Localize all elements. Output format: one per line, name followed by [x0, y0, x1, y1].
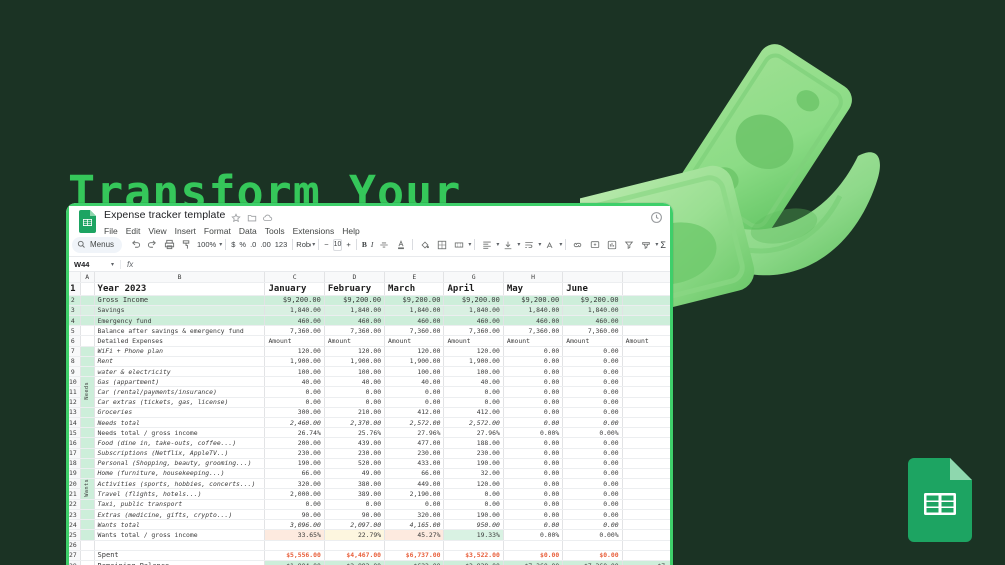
merge-chevron-down-icon[interactable]: ▾	[468, 241, 471, 248]
cell-value[interactable]: 0.00	[563, 377, 622, 387]
cell-value[interactable]: 0.00	[503, 448, 562, 458]
google-sheets-window[interactable]: Expense tracker template File Edit View	[66, 203, 673, 565]
cell-amount-header[interactable]: Amount	[265, 336, 324, 346]
cell-detailed-expenses[interactable]: Detailed Expenses	[94, 336, 265, 346]
cell-value[interactable]: 0.00	[265, 397, 324, 407]
zoom-level[interactable]: 100%	[195, 240, 218, 249]
cell-value[interactable]: 0.00	[503, 397, 562, 407]
print-icon[interactable]	[161, 236, 178, 253]
cell-value[interactable]: 0.00	[563, 387, 622, 397]
row-number[interactable]: 4	[66, 316, 80, 326]
cell-empty[interactable]	[324, 540, 384, 550]
row-number[interactable]: 17	[66, 448, 80, 458]
cell-value[interactable]: $9,200.00	[265, 295, 324, 305]
cell-value[interactable]: 7,360.00	[444, 326, 503, 336]
cell-value[interactable]: 22.79%	[324, 530, 384, 540]
cell-value[interactable]: 190.00	[444, 509, 503, 519]
row-number[interactable]: 5	[66, 326, 80, 336]
cell-label-wants-total[interactable]: Wants total	[94, 520, 265, 530]
cell-value[interactable]: 0.00	[265, 499, 324, 509]
cell-empty[interactable]	[622, 295, 672, 305]
cell-label[interactable]: Rent	[94, 356, 265, 366]
cell-value[interactable]: $3,522.00	[444, 550, 503, 560]
cell-label[interactable]: water & electricity	[94, 367, 265, 377]
cell-empty[interactable]	[622, 540, 672, 550]
cell-amount-header[interactable]: Amount	[324, 336, 384, 346]
cell-value[interactable]: 950.00	[444, 520, 503, 530]
cell-value[interactable]: 0.00	[503, 479, 562, 489]
cell-value[interactable]: 0.00	[503, 509, 562, 519]
merge-cells-icon[interactable]	[450, 236, 467, 253]
cell-month-may[interactable]: May	[503, 282, 562, 295]
cell-month-april[interactable]: April	[444, 282, 503, 295]
cell-value[interactable]: 0.00	[503, 458, 562, 468]
cell-value[interactable]: 0.00%	[503, 530, 562, 540]
cell-value[interactable]: 40.00	[444, 377, 503, 387]
row-number[interactable]: 18	[66, 458, 80, 468]
cell-value[interactable]: 0.00	[503, 377, 562, 387]
cell-value[interactable]: 1,900.00	[324, 356, 384, 366]
cell-value[interactable]: 1,900.00	[385, 356, 444, 366]
cell-a[interactable]	[80, 305, 94, 315]
cell-empty[interactable]	[622, 530, 672, 540]
table-row[interactable]: 7 WiFi + Phone plan 120.00 120.00 120.00…	[66, 346, 673, 356]
cell-value[interactable]: 230.00	[324, 448, 384, 458]
cell-value[interactable]: 0.00	[324, 397, 384, 407]
cell-value[interactable]: 7,360.00	[324, 326, 384, 336]
cell-a[interactable]	[80, 540, 94, 550]
table-row[interactable]: 10 Needs Gas (appartment) 40.00 40.00 40…	[66, 377, 673, 387]
cell-value[interactable]: 0.00	[503, 346, 562, 356]
row-number[interactable]: 22	[66, 499, 80, 509]
col-header-c[interactable]: C	[265, 272, 324, 282]
cell-value[interactable]: 0.00	[503, 468, 562, 478]
cell-label[interactable]: Car extras (tickets, gas, license)	[94, 397, 265, 407]
cell-value[interactable]: 2,370.00	[324, 417, 384, 427]
row-number[interactable]: 1	[66, 282, 80, 295]
cell-label-spent[interactable]: Spent	[94, 550, 265, 560]
cell-a[interactable]	[80, 550, 94, 560]
cell-value[interactable]: $3,838.00	[444, 560, 503, 565]
cell-empty[interactable]	[444, 540, 503, 550]
toolbar[interactable]: Menus 100% ▾ $ % .0 .00 123 Robot..	[66, 233, 673, 256]
cell-value[interactable]: 0.00	[503, 356, 562, 366]
cell-value[interactable]: 49.00	[324, 468, 384, 478]
table-row[interactable]: 3 Savings 1,840.00 1,840.00 1,840.00 1,8…	[66, 305, 673, 315]
cell-empty[interactable]	[622, 509, 672, 519]
cell-value[interactable]: 0.00	[563, 346, 622, 356]
cell-value[interactable]: 0.00	[503, 499, 562, 509]
cell-value[interactable]: 0.00	[444, 387, 503, 397]
cell-label-balance-after[interactable]: Balance after savings & emergency fund	[94, 326, 265, 336]
row-number[interactable]: 9	[66, 367, 80, 377]
cell-value[interactable]: 2,097.00	[324, 520, 384, 530]
namebox-chevron-down-icon[interactable]: ▾	[111, 261, 114, 268]
cell-value[interactable]: 2,460.00	[265, 417, 324, 427]
cell-value[interactable]: 412.00	[444, 407, 503, 417]
spreadsheet-grid[interactable]: A B C D E G H 1	[66, 272, 673, 565]
cell-value[interactable]: 0.00%	[563, 428, 622, 438]
cell-month-january[interactable]: January	[265, 282, 324, 295]
more-formats-button[interactable]: 123	[273, 240, 290, 249]
cell-value[interactable]: 40.00	[385, 377, 444, 387]
cell-year-title[interactable]: Year 2023	[94, 282, 265, 295]
cell-value[interactable]: 100.00	[444, 367, 503, 377]
cell-value[interactable]: 120.00	[265, 346, 324, 356]
cell-value[interactable]: 210.00	[324, 407, 384, 417]
cell-value[interactable]: 1,900.00	[265, 356, 324, 366]
cell-value[interactable]: 520.00	[324, 458, 384, 468]
cell-value[interactable]: 45.27%	[385, 530, 444, 540]
cell-value[interactable]: 460.00	[503, 316, 562, 326]
cell-empty[interactable]	[622, 520, 672, 530]
font-family-select[interactable]: Robot...	[296, 240, 311, 249]
cell-value[interactable]: 40.00	[324, 377, 384, 387]
table-row[interactable]: 9 water & electricity 100.00 100.00 100.…	[66, 367, 673, 377]
cell-value[interactable]: $7,360.00	[503, 560, 562, 565]
rotation-chevron-down-icon[interactable]: ▾	[559, 241, 562, 248]
name-box[interactable]: W44	[74, 260, 104, 269]
cell-empty[interactable]	[622, 417, 672, 427]
cell-value[interactable]: 0.00	[324, 499, 384, 509]
cell-label[interactable]: Activities (sports, hobbies, concerts...…	[94, 479, 265, 489]
cell-value[interactable]: 230.00	[385, 448, 444, 458]
cell-value[interactable]: 19.33%	[444, 530, 503, 540]
cell-month-june[interactable]: June	[563, 282, 622, 295]
cell-value[interactable]: 26.74%	[265, 428, 324, 438]
cell-label-needs-ratio[interactable]: Needs total / gross income	[94, 428, 265, 438]
cell-value[interactable]: 0.00	[563, 417, 622, 427]
cell-month-march[interactable]: March	[385, 282, 444, 295]
cell-value[interactable]: 7,360.00	[385, 326, 444, 336]
cell-value[interactable]: 0.00	[563, 367, 622, 377]
cell-empty[interactable]	[622, 438, 672, 448]
row-number[interactable]: 15	[66, 428, 80, 438]
table-row[interactable]: 19 Home (furniture, housekeeping...) 66.…	[66, 468, 673, 478]
currency-format-button[interactable]: $	[229, 240, 237, 249]
text-color-icon[interactable]	[392, 236, 409, 253]
cell-value[interactable]: 0.00	[503, 387, 562, 397]
menus-search-button[interactable]: Menus	[72, 237, 122, 253]
cell-value[interactable]: $9,200.00	[444, 295, 503, 305]
cell-value[interactable]: 120.00	[385, 346, 444, 356]
star-icon[interactable]	[231, 210, 241, 220]
row-number[interactable]: 12	[66, 397, 80, 407]
cell-value[interactable]: 2,190.00	[385, 489, 444, 499]
cell-empty[interactable]	[622, 550, 672, 560]
cell-label[interactable]: Personal (Shopping, beauty, grooming...)	[94, 458, 265, 468]
cell-value[interactable]: $7,360.00	[563, 560, 622, 565]
row-number[interactable]: 28	[66, 560, 80, 565]
table-row[interactable]: 22 Taxi, public transport 0.00 0.00 0.00…	[66, 499, 673, 509]
cell-value[interactable]: 0.00	[324, 387, 384, 397]
functions-button[interactable]: Σ	[658, 240, 668, 250]
zoom-chevron-down-icon[interactable]: ▾	[219, 241, 222, 248]
row-number[interactable]: 26	[66, 540, 80, 550]
table-row[interactable]: 25 Wants total / gross income 33.65% 22.…	[66, 530, 673, 540]
table-row[interactable]: 12 Car extras (tickets, gas, license) 0.…	[66, 397, 673, 407]
table-row[interactable]: 26	[66, 540, 673, 550]
cell-empty[interactable]	[385, 540, 444, 550]
table-row[interactable]: 27 Spent $5,556.00 $4,467.00 $6,737.00 $…	[66, 550, 673, 560]
cell-value[interactable]: $1,804.00	[265, 560, 324, 565]
cell-value[interactable]: 190.00	[265, 458, 324, 468]
cell-value[interactable]: 0.00	[385, 387, 444, 397]
cell-value[interactable]: 0.00	[444, 499, 503, 509]
cell-empty[interactable]	[622, 282, 672, 295]
table-row[interactable]: 4 Emergency fund 460.00 460.00 460.00 46…	[66, 316, 673, 326]
cell-empty[interactable]	[622, 377, 672, 387]
cell-value[interactable]: 0.00%	[503, 428, 562, 438]
percent-format-button[interactable]: %	[237, 240, 248, 249]
table-row[interactable]: 6 Detailed Expenses Amount Amount Amount…	[66, 336, 673, 346]
row-number[interactable]: 10	[66, 377, 80, 387]
cloud-saved-icon[interactable]	[263, 210, 273, 220]
text-rotation-icon[interactable]	[541, 236, 558, 253]
col-header-h[interactable]: H	[503, 272, 562, 282]
cell-value[interactable]: $6,737.00	[385, 550, 444, 560]
filter-icon[interactable]	[620, 236, 637, 253]
cell-value[interactable]: 0.00	[563, 448, 622, 458]
table-row[interactable]: 8 Rent 1,900.00 1,900.00 1,900.00 1,900.…	[66, 356, 673, 366]
row-number[interactable]: 19	[66, 468, 80, 478]
col-header-j[interactable]	[622, 272, 672, 282]
cell-label[interactable]: Extras (medicine, gifts, crypto...)	[94, 509, 265, 519]
cell-value[interactable]: 1,840.00	[265, 305, 324, 315]
cell-value[interactable]: 320.00	[265, 479, 324, 489]
cell-label-wants-ratio[interactable]: Wants total / gross income	[94, 530, 265, 540]
cell-empty[interactable]	[622, 346, 672, 356]
cell-value[interactable]: 3,096.00	[265, 520, 324, 530]
row-number[interactable]: 23	[66, 509, 80, 519]
cell-value[interactable]: 0.00	[503, 438, 562, 448]
table-row[interactable]: 28 Remaining Balance $1,804.00 $2,893.00…	[66, 560, 673, 565]
cell-value[interactable]: 90.00	[324, 509, 384, 519]
cell-value[interactable]: $4,467.00	[324, 550, 384, 560]
cell-empty[interactable]	[622, 479, 672, 489]
cell-value[interactable]: $0.00	[563, 550, 622, 560]
fill-color-icon[interactable]	[416, 236, 433, 253]
insert-comment-icon[interactable]	[586, 236, 603, 253]
redo-icon[interactable]	[144, 236, 161, 253]
cell-value[interactable]: 460.00	[265, 316, 324, 326]
cell-value[interactable]: 120.00	[444, 479, 503, 489]
cell-value[interactable]: 32.00	[444, 468, 503, 478]
cell-empty[interactable]	[622, 387, 672, 397]
cell-value[interactable]: 0.00	[563, 468, 622, 478]
decrease-font-size-button[interactable]: −	[322, 240, 330, 249]
cell-label[interactable]: Car (rental/payments/insurance)	[94, 387, 265, 397]
row-number[interactable]: 13	[66, 407, 80, 417]
row-number[interactable]: 11	[66, 387, 80, 397]
cell-empty[interactable]	[622, 367, 672, 377]
col-header-g[interactable]: G	[444, 272, 503, 282]
vertical-align-icon[interactable]	[499, 236, 516, 253]
cell-value[interactable]: 477.00	[385, 438, 444, 448]
row-number[interactable]: 8	[66, 356, 80, 366]
table-row[interactable]: 23 Extras (medicine, gifts, crypto...) 9…	[66, 509, 673, 519]
cell-value[interactable]: $9,200.00	[324, 295, 384, 305]
cell-empty[interactable]	[622, 316, 672, 326]
cell-value[interactable]: $9,200.00	[503, 295, 562, 305]
cell-label-emergency-fund[interactable]: Emergency fund	[94, 316, 265, 326]
cell-empty[interactable]	[622, 356, 672, 366]
cell-value[interactable]: $5,556.00	[265, 550, 324, 560]
cell-value[interactable]: 190.00	[444, 458, 503, 468]
cell-value[interactable]: 230.00	[265, 448, 324, 458]
borders-icon[interactable]	[433, 236, 450, 253]
cell-value[interactable]: 7,360.00	[503, 326, 562, 336]
cell-value[interactable]: 66.00	[265, 468, 324, 478]
cell-value[interactable]: 2,572.00	[385, 417, 444, 427]
cell-value[interactable]: 40.00	[265, 377, 324, 387]
cell-empty[interactable]	[265, 540, 324, 550]
col-header-d[interactable]: D	[324, 272, 384, 282]
table-row[interactable]: 1 Year 2023 January February March April…	[66, 282, 673, 295]
cell-amount-header[interactable]: Amount	[503, 336, 562, 346]
row-number[interactable]: 25	[66, 530, 80, 540]
row-number[interactable]: 6	[66, 336, 80, 346]
font-size-input[interactable]: 10	[333, 239, 343, 251]
move-to-folder-icon[interactable]	[247, 210, 257, 220]
row-number[interactable]: 7	[66, 346, 80, 356]
col-header-i[interactable]	[563, 272, 622, 282]
cell-amount-header[interactable]: Amount	[444, 336, 503, 346]
cell-empty[interactable]	[622, 468, 672, 478]
cell-value[interactable]: $9,200.00	[385, 295, 444, 305]
cell-value[interactable]: 380.00	[324, 479, 384, 489]
cell-value[interactable]: $9,200.00	[563, 295, 622, 305]
filter-views-icon[interactable]	[637, 236, 654, 253]
bold-button[interactable]: B	[360, 240, 369, 249]
cell-value[interactable]: 433.00	[385, 458, 444, 468]
row-number[interactable]: 24	[66, 520, 80, 530]
row-number[interactable]: 20	[66, 479, 80, 489]
cell-value[interactable]: 1,840.00	[444, 305, 503, 315]
cell-value[interactable]: 0.00	[563, 520, 622, 530]
paint-format-icon[interactable]	[178, 236, 195, 253]
font-chevron-down-icon[interactable]: ▾	[312, 241, 315, 248]
cell-label[interactable]: Travel (flights, hotels...)	[94, 489, 265, 499]
cell-value[interactable]: 0.00	[563, 489, 622, 499]
cell-amount-header[interactable]: Amount	[563, 336, 622, 346]
text-wrap-icon[interactable]	[520, 236, 537, 253]
cell-value[interactable]: 0.00	[503, 417, 562, 427]
row-number[interactable]: 16	[66, 438, 80, 448]
cell-value[interactable]: $2,893.00	[324, 560, 384, 565]
cell-label[interactable]: Gas (appartment)	[94, 377, 265, 387]
cell-value[interactable]: 0.00	[563, 458, 622, 468]
row-number[interactable]: 3	[66, 305, 80, 315]
table-row[interactable]: 2 Gross Income $9,200.00 $9,200.00 $9,20…	[66, 295, 673, 305]
cell-a1[interactable]	[80, 282, 94, 295]
cell-label[interactable]: Home (furniture, housekeeping...)	[94, 468, 265, 478]
cell-month-february[interactable]: February	[324, 282, 384, 295]
col-header-b[interactable]: B	[94, 272, 265, 282]
version-history-icon[interactable]	[650, 211, 663, 224]
cell-label[interactable]: WiFi + Phone plan	[94, 346, 265, 356]
cell-value[interactable]: 460.00	[563, 316, 622, 326]
cell-a[interactable]	[80, 316, 94, 326]
cell-value[interactable]: 0.00	[563, 509, 622, 519]
cell-value[interactable]: 0.00	[503, 407, 562, 417]
cell-value[interactable]: 4,165.00	[385, 520, 444, 530]
document-title[interactable]: Expense tracker template	[104, 209, 225, 221]
cell-label-remaining-balance[interactable]: Remaining Balance	[94, 560, 265, 565]
cell-value[interactable]: 1,900.00	[444, 356, 503, 366]
cell-value[interactable]: 25.76%	[324, 428, 384, 438]
cell-label-needs-total[interactable]: Needs total	[94, 417, 265, 427]
table-row[interactable]: 13 Groceries 300.00 210.00 412.00 412.00…	[66, 407, 673, 417]
col-header-a[interactable]: A	[80, 272, 94, 282]
cell-empty[interactable]	[94, 540, 265, 550]
cell-value[interactable]: 460.00	[385, 316, 444, 326]
table-row[interactable]: 5 Balance after savings & emergency fund…	[66, 326, 673, 336]
cell-label[interactable]: Food (dine in, take-outs, coffee...)	[94, 438, 265, 448]
cell-value[interactable]: 0.00	[563, 356, 622, 366]
insert-chart-icon[interactable]	[603, 236, 620, 253]
cell-value[interactable]: 188.00	[444, 438, 503, 448]
cell-amount-header[interactable]: Amount	[385, 336, 444, 346]
table-row[interactable]: 17 Subscriptions (Netflix, AppleTV..) 23…	[66, 448, 673, 458]
cell-value[interactable]: 0.00	[503, 367, 562, 377]
cell-a[interactable]	[80, 326, 94, 336]
cell-empty[interactable]	[622, 305, 672, 315]
cell-value[interactable]: 7,360.00	[563, 326, 622, 336]
cell-value[interactable]: 0.00	[563, 407, 622, 417]
cell-value[interactable]: 0.00	[385, 397, 444, 407]
cell-label[interactable]: Groceries	[94, 407, 265, 417]
cell-value[interactable]: 230.00	[444, 448, 503, 458]
cell-value[interactable]: 66.00	[385, 468, 444, 478]
cell-value[interactable]: 100.00	[324, 367, 384, 377]
corner-cell[interactable]	[66, 272, 80, 282]
cell-value[interactable]: 100.00	[385, 367, 444, 377]
cell-label-savings[interactable]: Savings	[94, 305, 265, 315]
cell-label[interactable]: Subscriptions (Netflix, AppleTV..)	[94, 448, 265, 458]
cell-a[interactable]	[80, 560, 94, 565]
cell-a[interactable]	[80, 336, 94, 346]
cell-empty[interactable]	[622, 407, 672, 417]
formula-bar[interactable]: W44 ▾ fx	[66, 256, 673, 272]
cell-value[interactable]: 33.65%	[265, 530, 324, 540]
cell-value[interactable]: 0.00	[503, 489, 562, 499]
cell-value[interactable]: 460.00	[444, 316, 503, 326]
decrease-decimal-button[interactable]: .0	[248, 240, 258, 249]
undo-icon[interactable]	[127, 236, 144, 253]
cell-value[interactable]: 0.00	[563, 438, 622, 448]
cell-value[interactable]: 1,840.00	[503, 305, 562, 315]
cell-value[interactable]: 0.00	[503, 520, 562, 530]
cell-value[interactable]: 300.00	[265, 407, 324, 417]
cell-value[interactable]: 320.00	[385, 509, 444, 519]
cell-value[interactable]: 27.96%	[385, 428, 444, 438]
table-row[interactable]: 21 Travel (flights, hotels...) 2,000.00 …	[66, 489, 673, 499]
cell-value[interactable]: 0.00	[563, 397, 622, 407]
cell-value[interactable]: 0.00	[385, 499, 444, 509]
cell-value[interactable]: 27.96%	[444, 428, 503, 438]
cell-value[interactable]: 1,840.00	[324, 305, 384, 315]
cell-value[interactable]: 1,840.00	[563, 305, 622, 315]
cell-value[interactable]: 7,360.00	[265, 326, 324, 336]
cell-value[interactable]: 1,840.00	[385, 305, 444, 315]
row-number[interactable]: 2	[66, 295, 80, 305]
cell-value[interactable]: 0.00	[444, 397, 503, 407]
cell-value[interactable]: 120.00	[444, 346, 503, 356]
row-number[interactable]: 27	[66, 550, 80, 560]
insert-link-icon[interactable]	[569, 236, 586, 253]
cell-empty[interactable]	[622, 499, 672, 509]
